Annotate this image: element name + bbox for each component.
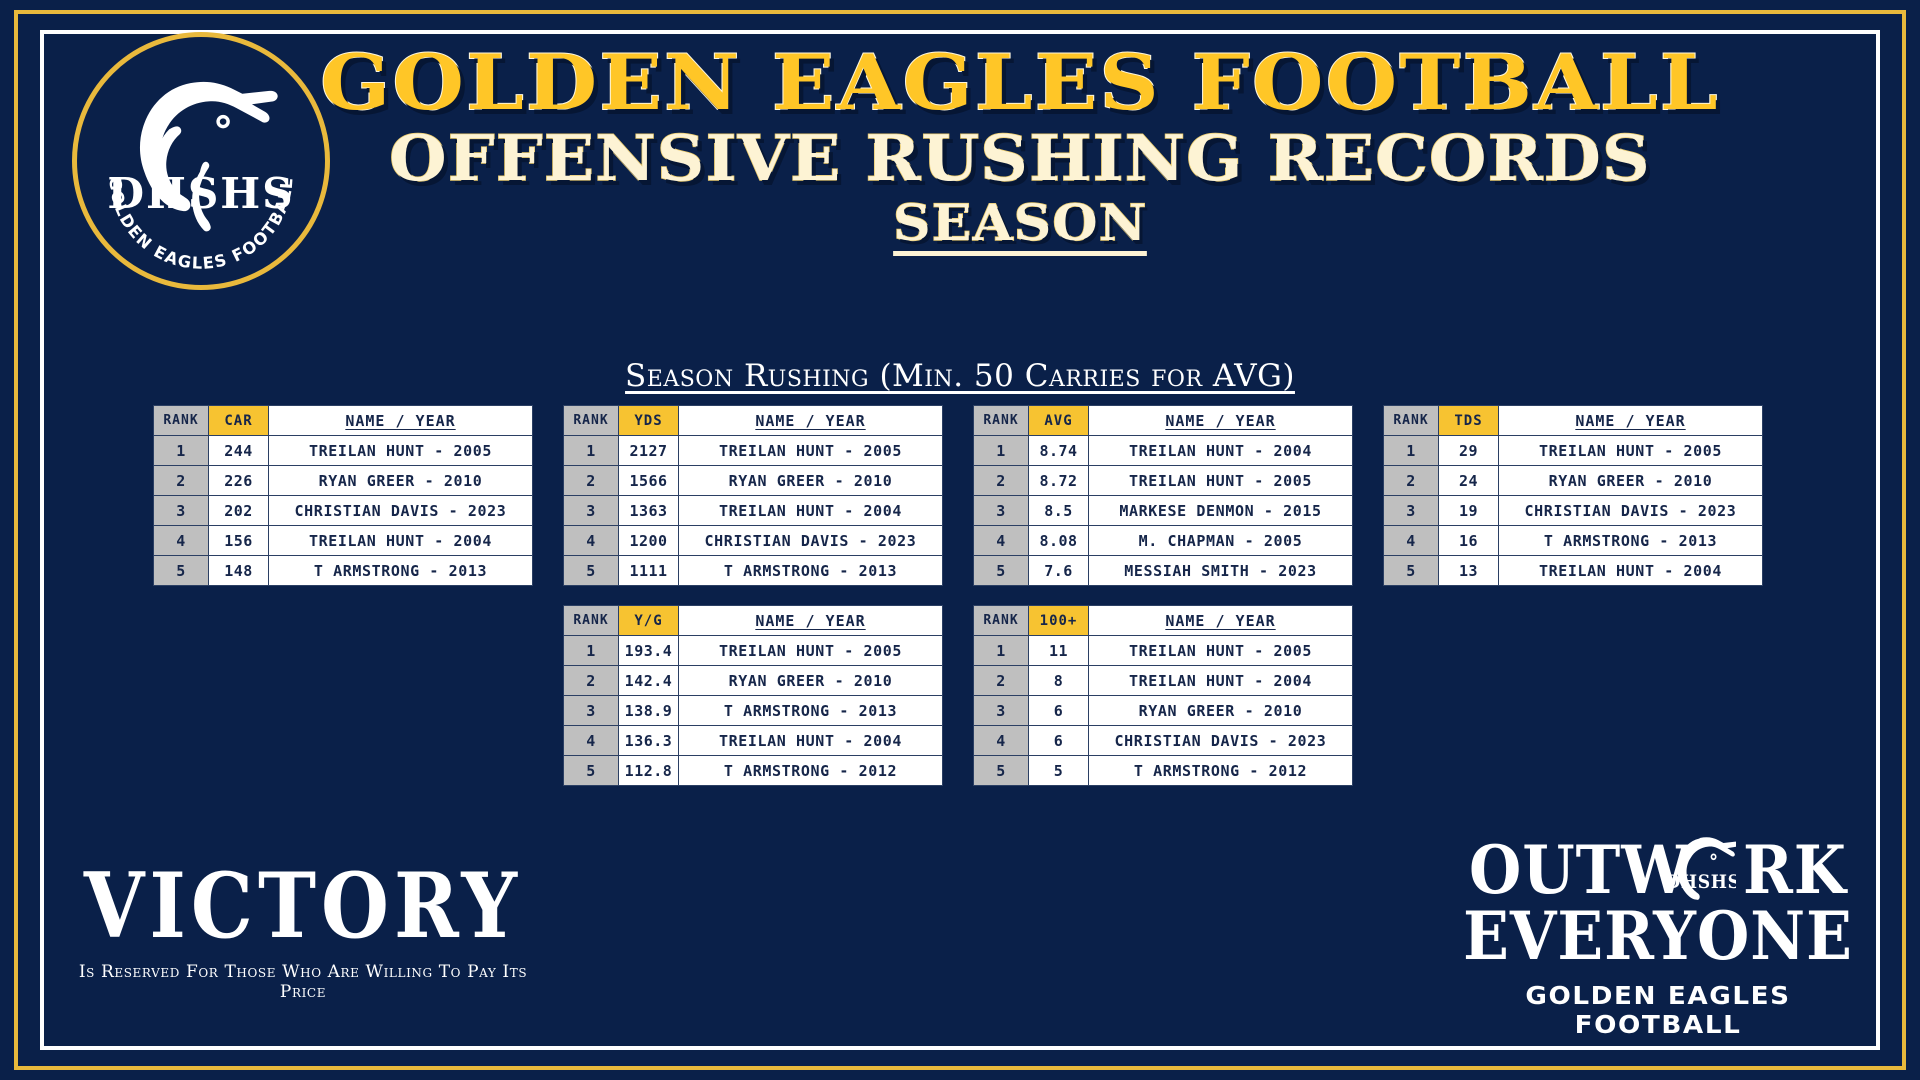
table-row: 1193.4TREILAN HUNT - 2005 <box>564 636 943 666</box>
cell-name: TREILAN HUNT - 2004 <box>1089 666 1353 696</box>
table-row: 513TREILAN HUNT - 2004 <box>1384 556 1763 586</box>
cell-stat: 2127 <box>619 436 679 466</box>
table-row: 3202CHRISTIAN DAVIS - 2023 <box>154 496 533 526</box>
table-row: 21566RYAN GREER - 2010 <box>564 466 943 496</box>
column-header-name: NAME / YEAR <box>1089 406 1353 436</box>
cell-rank: 2 <box>564 466 619 496</box>
victory-tagline: Is Reserved For Those Who Are Willing To… <box>78 962 528 1002</box>
cell-stat: 8.5 <box>1029 496 1089 526</box>
poster-canvas: DHSHS GOLDEN EAGLES FOOTBALL GOLDEN EAGL… <box>0 0 1920 1080</box>
table-row: 5148T ARMSTRONG - 2013 <box>154 556 533 586</box>
column-header-stat: YDS <box>619 406 679 436</box>
table-row: 18.74TREILAN HUNT - 2004 <box>974 436 1353 466</box>
cell-stat: 8 <box>1029 666 1089 696</box>
cell-rank: 5 <box>1384 556 1439 586</box>
victory-slogan: VICTORY Is Reserved For Those Who Are Wi… <box>78 862 528 1002</box>
outwork-line-2: EVERYONE <box>1448 904 1868 971</box>
records-table-ypg: RANKY/GNAME / YEAR1193.4TREILAN HUNT - 2… <box>563 605 943 786</box>
cell-rank: 4 <box>974 526 1029 556</box>
cell-stat: 138.9 <box>619 696 679 726</box>
outwork-line-1: OUTWORK DHSHS <box>1448 838 1868 904</box>
cell-name: CHRISTIAN DAVIS - 2023 <box>269 496 533 526</box>
table-header-row: RANKCARNAME / YEAR <box>154 406 533 436</box>
cell-name: RYAN GREER - 2010 <box>679 466 943 496</box>
column-header-name: NAME / YEAR <box>1089 606 1353 636</box>
cell-stat: 6 <box>1029 726 1089 756</box>
cell-rank: 3 <box>154 496 209 526</box>
page-subtitle: OFFENSIVE RUSHING RECORDS <box>296 126 1745 190</box>
cell-name: T ARMSTRONG - 2013 <box>679 556 943 586</box>
table-row: 48.08M. CHAPMAN - 2005 <box>974 526 1353 556</box>
cell-rank: 1 <box>1384 436 1439 466</box>
cell-name: MARKESE DENMON - 2015 <box>1089 496 1353 526</box>
header-titles: GOLDEN EAGLES FOOTBALL OFFENSIVE RUSHING… <box>330 46 1710 256</box>
table-row: 46CHRISTIAN DAVIS - 2023 <box>974 726 1353 756</box>
cell-stat: 16 <box>1439 526 1499 556</box>
cell-stat: 8.74 <box>1029 436 1089 466</box>
table-row: 31363TREILAN HUNT - 2004 <box>564 496 943 526</box>
cell-name: TREILAN HUNT - 2005 <box>1499 436 1763 466</box>
cell-rank: 4 <box>564 526 619 556</box>
table-row: 224RYAN GREER - 2010 <box>1384 466 1763 496</box>
column-header-rank: RANK <box>564 606 619 636</box>
cell-stat: 13 <box>1439 556 1499 586</box>
cell-stat: 8.72 <box>1029 466 1089 496</box>
table-row: 416T ARMSTRONG - 2013 <box>1384 526 1763 556</box>
records-table-yds: RANKYDSNAME / YEAR12127TREILAN HUNT - 20… <box>563 405 943 586</box>
records-table-tds: RANKTDSNAME / YEAR129TREILAN HUNT - 2005… <box>1383 405 1763 586</box>
cell-stat: 1200 <box>619 526 679 556</box>
column-header-stat: 100+ <box>1029 606 1089 636</box>
page-title: GOLDEN EAGLES FOOTBALL <box>275 46 1765 120</box>
cell-rank: 1 <box>154 436 209 466</box>
cell-name: RYAN GREER - 2010 <box>269 466 533 496</box>
table-header-row: RANKTDSNAME / YEAR <box>1384 406 1763 436</box>
column-header-rank: RANK <box>1384 406 1439 436</box>
cell-rank: 5 <box>974 556 1029 586</box>
table-row: 4156TREILAN HUNT - 2004 <box>154 526 533 556</box>
svg-text:DHSHS: DHSHS <box>107 168 294 218</box>
cell-name: MESSIAH SMITH - 2023 <box>1089 556 1353 586</box>
table-header-row: RANKY/GNAME / YEAR <box>564 606 943 636</box>
cell-rank: 2 <box>564 666 619 696</box>
cell-name: T ARMSTRONG - 2013 <box>679 696 943 726</box>
cell-name: T ARMSTRONG - 2013 <box>1499 526 1763 556</box>
cell-rank: 2 <box>974 466 1029 496</box>
table-row: 1244TREILAN HUNT - 2005 <box>154 436 533 466</box>
column-header-rank: RANK <box>564 406 619 436</box>
cell-stat: 6 <box>1029 696 1089 726</box>
table-row: 2226RYAN GREER - 2010 <box>154 466 533 496</box>
table-row: 5112.8T ARMSTRONG - 2012 <box>564 756 943 786</box>
outwork-line-3: GOLDEN EAGLES FOOTBALL <box>1438 981 1879 1039</box>
column-header-stat: TDS <box>1439 406 1499 436</box>
cell-rank: 5 <box>564 756 619 786</box>
table-row: 2142.4RYAN GREER - 2010 <box>564 666 943 696</box>
cell-stat: 5 <box>1029 756 1089 786</box>
column-header-name: NAME / YEAR <box>679 606 943 636</box>
column-header-name: NAME / YEAR <box>1499 406 1763 436</box>
cell-rank: 3 <box>564 496 619 526</box>
cell-name: TREILAN HUNT - 2005 <box>1089 636 1353 666</box>
table-yds: RANKYDSNAME / YEAR12127TREILAN HUNT - 20… <box>563 405 943 586</box>
cell-name: M. CHAPMAN - 2005 <box>1089 526 1353 556</box>
table-header-row: RANKAVGNAME / YEAR <box>974 406 1353 436</box>
page-category: SEASON <box>893 197 1147 257</box>
table-row: 38.5MARKESE DENMON - 2015 <box>974 496 1353 526</box>
table-row: 41200CHRISTIAN DAVIS - 2023 <box>564 526 943 556</box>
table-row: 4136.3TREILAN HUNT - 2004 <box>564 726 943 756</box>
cell-stat: 244 <box>209 436 269 466</box>
victory-word: VICTORY <box>78 862 528 952</box>
cell-stat: 19 <box>1439 496 1499 526</box>
cell-name: TREILAN HUNT - 2004 <box>679 496 943 526</box>
cell-name: TREILAN HUNT - 2004 <box>1089 436 1353 466</box>
table-avg: RANKAVGNAME / YEAR18.74TREILAN HUNT - 20… <box>973 405 1353 586</box>
table-row: 12127TREILAN HUNT - 2005 <box>564 436 943 466</box>
cell-rank: 1 <box>564 636 619 666</box>
cell-rank: 4 <box>564 726 619 756</box>
cell-rank: 1 <box>974 636 1029 666</box>
cell-rank: 3 <box>974 696 1029 726</box>
column-header-rank: RANK <box>974 606 1029 636</box>
cell-stat: 1111 <box>619 556 679 586</box>
cell-name: T ARMSTRONG - 2013 <box>269 556 533 586</box>
cell-rank: 3 <box>564 696 619 726</box>
cell-name: TREILAN HUNT - 2005 <box>679 636 943 666</box>
table-row: 3138.9T ARMSTRONG - 2013 <box>564 696 943 726</box>
table-row: 36RYAN GREER - 2010 <box>974 696 1353 726</box>
cell-stat: 11 <box>1029 636 1089 666</box>
cell-name: CHRISTIAN DAVIS - 2023 <box>1089 726 1353 756</box>
cell-name: RYAN GREER - 2010 <box>1089 696 1353 726</box>
cell-rank: 1 <box>564 436 619 466</box>
cell-name: TREILAN HUNT - 2004 <box>269 526 533 556</box>
records-table-car: RANKCARNAME / YEAR1244TREILAN HUNT - 200… <box>153 405 533 586</box>
table-row: 57.6MESSIAH SMITH - 2023 <box>974 556 1353 586</box>
table-car: RANKCARNAME / YEAR1244TREILAN HUNT - 200… <box>153 405 533 586</box>
cell-rank: 4 <box>974 726 1029 756</box>
cell-stat: 1363 <box>619 496 679 526</box>
cell-stat: 142.4 <box>619 666 679 696</box>
cell-name: TREILAN HUNT - 2004 <box>679 726 943 756</box>
table-row: 55T ARMSTRONG - 2012 <box>974 756 1353 786</box>
cell-name: RYAN GREER - 2010 <box>1499 466 1763 496</box>
column-header-stat: AVG <box>1029 406 1089 436</box>
svg-text:DHSHS: DHSHS <box>1670 871 1736 893</box>
table-ypg: RANKY/GNAME / YEAR1193.4TREILAN HUNT - 2… <box>563 605 943 786</box>
cell-rank: 2 <box>1384 466 1439 496</box>
table-row: 28.72TREILAN HUNT - 2005 <box>974 466 1353 496</box>
column-header-name: NAME / YEAR <box>679 406 943 436</box>
cell-rank: 5 <box>564 556 619 586</box>
records-table-avg: RANKAVGNAME / YEAR18.74TREILAN HUNT - 20… <box>973 405 1353 586</box>
cell-name: TREILAN HUNT - 2005 <box>269 436 533 466</box>
table-row: 129TREILAN HUNT - 2005 <box>1384 436 1763 466</box>
cell-stat: 193.4 <box>619 636 679 666</box>
table-tds: RANKTDSNAME / YEAR129TREILAN HUNT - 2005… <box>1383 405 1763 586</box>
cell-rank: 4 <box>154 526 209 556</box>
cell-rank: 2 <box>974 666 1029 696</box>
cell-name: T ARMSTRONG - 2012 <box>679 756 943 786</box>
cell-rank: 1 <box>974 436 1029 466</box>
cell-rank: 4 <box>1384 526 1439 556</box>
table-hundred-plus: RANK100+NAME / YEAR111TREILAN HUNT - 200… <box>973 605 1353 786</box>
cell-rank: 2 <box>154 466 209 496</box>
cell-rank: 5 <box>974 756 1029 786</box>
cell-stat: 202 <box>209 496 269 526</box>
table-row: 51111T ARMSTRONG - 2013 <box>564 556 943 586</box>
cell-rank: 3 <box>974 496 1029 526</box>
table-header-row: RANK100+NAME / YEAR <box>974 606 1353 636</box>
table-row: 111TREILAN HUNT - 2005 <box>974 636 1353 666</box>
table-row: 28TREILAN HUNT - 2004 <box>974 666 1353 696</box>
cell-name: TREILAN HUNT - 2005 <box>1089 466 1353 496</box>
column-header-stat: Y/G <box>619 606 679 636</box>
column-header-stat: CAR <box>209 406 269 436</box>
column-header-name: NAME / YEAR <box>269 406 533 436</box>
cell-name: TREILAN HUNT - 2004 <box>1499 556 1763 586</box>
cell-name: T ARMSTRONG - 2012 <box>1089 756 1353 786</box>
cell-stat: 8.08 <box>1029 526 1089 556</box>
cell-stat: 1566 <box>619 466 679 496</box>
column-header-rank: RANK <box>974 406 1029 436</box>
eagle-head-mark-icon: DHSHS <box>1670 831 1736 904</box>
cell-name: CHRISTIAN DAVIS - 2023 <box>1499 496 1763 526</box>
cell-name: RYAN GREER - 2010 <box>679 666 943 696</box>
cell-stat: 112.8 <box>619 756 679 786</box>
cell-name: TREILAN HUNT - 2005 <box>679 436 943 466</box>
cell-stat: 136.3 <box>619 726 679 756</box>
cell-stat: 29 <box>1439 436 1499 466</box>
cell-stat: 148 <box>209 556 269 586</box>
cell-rank: 5 <box>154 556 209 586</box>
outwork-slogan: OUTWORK DHSHS EVERYONE GOLDEN EAGLES FOO… <box>1448 838 1868 1039</box>
cell-name: CHRISTIAN DAVIS - 2023 <box>679 526 943 556</box>
cell-stat: 24 <box>1439 466 1499 496</box>
cell-rank: 3 <box>1384 496 1439 526</box>
records-table-hundred-plus: RANK100+NAME / YEAR111TREILAN HUNT - 200… <box>973 605 1353 786</box>
table-header-row: RANKYDSNAME / YEAR <box>564 406 943 436</box>
cell-stat: 226 <box>209 466 269 496</box>
table-row: 319CHRISTIAN DAVIS - 2023 <box>1384 496 1763 526</box>
section-title: Season Rushing (Min. 50 Carries for AVG) <box>0 358 1920 394</box>
column-header-rank: RANK <box>154 406 209 436</box>
cell-stat: 7.6 <box>1029 556 1089 586</box>
cell-stat: 156 <box>209 526 269 556</box>
